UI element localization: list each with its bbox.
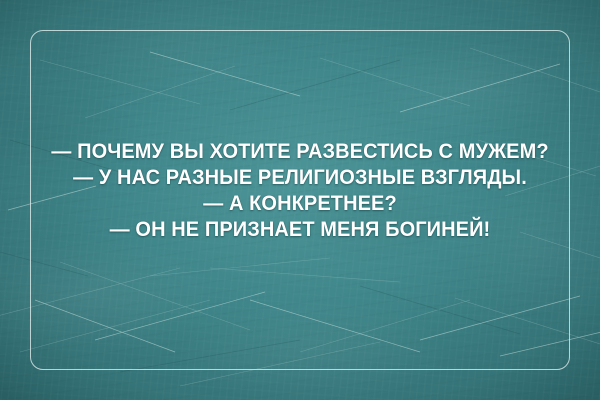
chalkboard-card: — ПОЧЕМУ ВЫ ХОТИТЕ РАЗВЕСТИСЬ С МУЖЕМ? —… <box>0 0 600 400</box>
dialogue-line-4: — ОН НЕ ПРИЗНАЕТ МЕНЯ БОГИНЕЙ! <box>49 216 551 242</box>
joke-dialogue: — ПОЧЕМУ ВЫ ХОТИТЕ РАЗВЕСТИСЬ С МУЖЕМ? —… <box>49 138 551 242</box>
dialogue-line-2: — У НАС РАЗНЫЕ РЕЛИГИОЗНЫЕ ВЗГЛЯДЫ. <box>49 164 551 190</box>
dialogue-line-3: — А КОНКРЕТНЕЕ? <box>49 190 551 216</box>
dialogue-line-1: — ПОЧЕМУ ВЫ ХОТИТЕ РАЗВЕСТИСЬ С МУЖЕМ? <box>49 138 551 164</box>
